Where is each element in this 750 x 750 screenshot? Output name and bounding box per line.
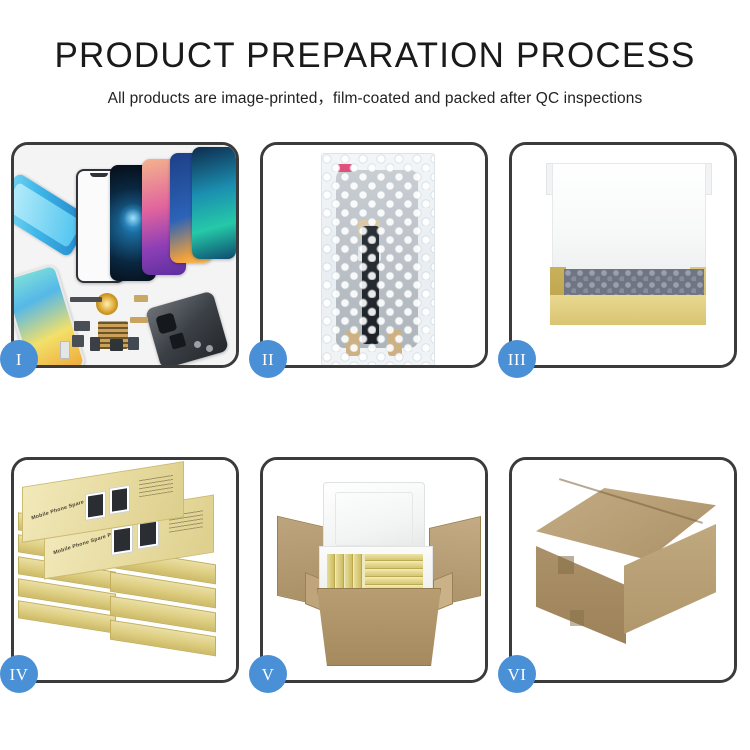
step-image-stacked-boxes: Mobile Phone Spare Parts Mobile Phone Sp…: [14, 460, 236, 680]
step-image-bubble-wrap-bag: [263, 145, 485, 365]
chip-icon: [70, 297, 102, 302]
step-image-carton-with-foam: [263, 460, 485, 680]
step-panel-6[interactable]: VI: [509, 457, 737, 683]
box-spec-lines: [139, 474, 173, 497]
bubble-texture-icon: [322, 154, 434, 365]
small-part-icon: [74, 321, 90, 331]
carton-body-icon: [317, 588, 441, 666]
steps-grid: I II: [11, 142, 739, 683]
box-product-photo: [111, 524, 133, 555]
flex-cable-icon: [130, 317, 148, 323]
step-badge-3: III: [498, 340, 536, 378]
step-badge-2: II: [249, 340, 287, 378]
step-image-sealed-carton: [512, 460, 734, 680]
box-product-photo: [109, 485, 130, 515]
step-image-phone-parts-collage: [14, 145, 236, 365]
step-badge-4: IV: [0, 655, 38, 693]
carton-tape-patch-icon: [570, 610, 584, 626]
step-badge-6: VI: [498, 655, 536, 693]
carton-left-face-icon: [536, 546, 626, 644]
step-badge-5: V: [249, 655, 287, 693]
button-part-icon: [128, 337, 139, 350]
speaker-part-icon: [110, 339, 123, 351]
kraft-tray-front-icon: [550, 295, 706, 325]
phone-housing-back-icon: [145, 291, 229, 365]
product-preparation-infographic: PRODUCT PREPARATION PROCESS All products…: [0, 0, 750, 750]
step-panel-1[interactable]: I: [11, 142, 239, 368]
page-title: PRODUCT PREPARATION PROCESS: [0, 0, 750, 75]
white-box-lid-icon: [552, 163, 706, 283]
bubble-bag-icon: [321, 153, 435, 365]
step-image-open-kraft-box: [512, 145, 734, 365]
step-panel-5[interactable]: V: [260, 457, 488, 683]
screw-icon: [194, 341, 201, 348]
step-panel-3[interactable]: III: [509, 142, 737, 368]
screw-icon: [206, 345, 213, 352]
sim-tray-icon: [60, 341, 70, 359]
header: PRODUCT PREPARATION PROCESS All products…: [0, 0, 750, 108]
box-product-photo: [85, 491, 106, 521]
flex-connector-icon: [134, 295, 148, 302]
camera-part-icon: [90, 337, 100, 351]
foam-lid-icon: [323, 482, 425, 556]
screw-part-icon: [72, 335, 84, 347]
carton-tape-patch-icon: [558, 556, 574, 574]
step-panel-2[interactable]: II: [260, 142, 488, 368]
step-panel-4[interactable]: Mobile Phone Spare Parts Mobile Phone Sp…: [11, 457, 239, 683]
page-subtitle: All products are image-printed，film-coat…: [0, 75, 750, 108]
phone-teal-screen-icon: [192, 147, 236, 259]
step-badge-1: I: [0, 340, 38, 378]
